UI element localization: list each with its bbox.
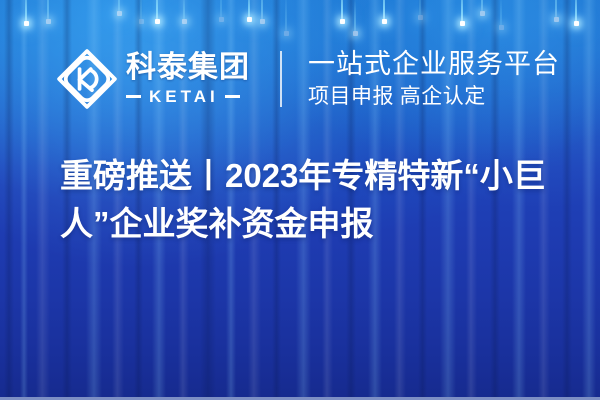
light-streak xyxy=(25,0,27,24)
light-streak xyxy=(354,0,356,34)
light-streak xyxy=(500,0,502,28)
light-streak xyxy=(419,0,421,18)
banner-title: 重磅推送丨2023年专精特新“小巨人”企业奖补资金申报 xyxy=(60,152,560,248)
light-ribbon xyxy=(20,0,28,400)
light-streak xyxy=(555,0,557,20)
light-streak xyxy=(383,0,385,22)
light-streak xyxy=(461,0,463,24)
brand-name-cn: 科泰集团 xyxy=(126,53,250,83)
tagline-primary: 一站式企业服务平台 xyxy=(308,50,560,79)
light-streak xyxy=(220,0,222,20)
ketai-diamond-logo-icon xyxy=(56,48,118,110)
brand-wordmark: 科泰集团 KETAI xyxy=(126,53,250,105)
promo-banner: 科泰集团 KETAI 一站式企业服务平台 项目申报 高企认定 重磅推送丨2023… xyxy=(0,0,600,400)
tagline-secondary: 项目申报 高企认定 xyxy=(308,84,560,108)
light-streak xyxy=(140,0,142,22)
light-streak xyxy=(575,0,577,24)
header-divider xyxy=(280,51,282,107)
light-streak xyxy=(341,0,343,22)
light-streak xyxy=(285,0,287,34)
light-ribbon xyxy=(582,0,596,400)
light-ribbon xyxy=(562,0,572,400)
dash-left-icon xyxy=(126,95,141,98)
light-streak xyxy=(156,0,158,22)
brand-name-en: KETAI xyxy=(147,88,219,105)
light-streak xyxy=(118,0,120,14)
dash-right-icon xyxy=(225,95,240,98)
light-streak xyxy=(481,0,483,14)
light-streak xyxy=(248,0,250,20)
light-ribbon xyxy=(4,0,14,400)
light-streak xyxy=(261,0,263,22)
light-ribbon xyxy=(36,0,50,400)
light-streak xyxy=(47,0,49,22)
light-streak xyxy=(183,0,185,22)
brand-name-en-row: KETAI xyxy=(126,88,250,105)
banner-header: 科泰集团 KETAI 一站式企业服务平台 项目申报 高企认定 xyxy=(56,46,560,112)
tagline-group: 一站式企业服务平台 项目申报 高企认定 xyxy=(308,50,560,108)
